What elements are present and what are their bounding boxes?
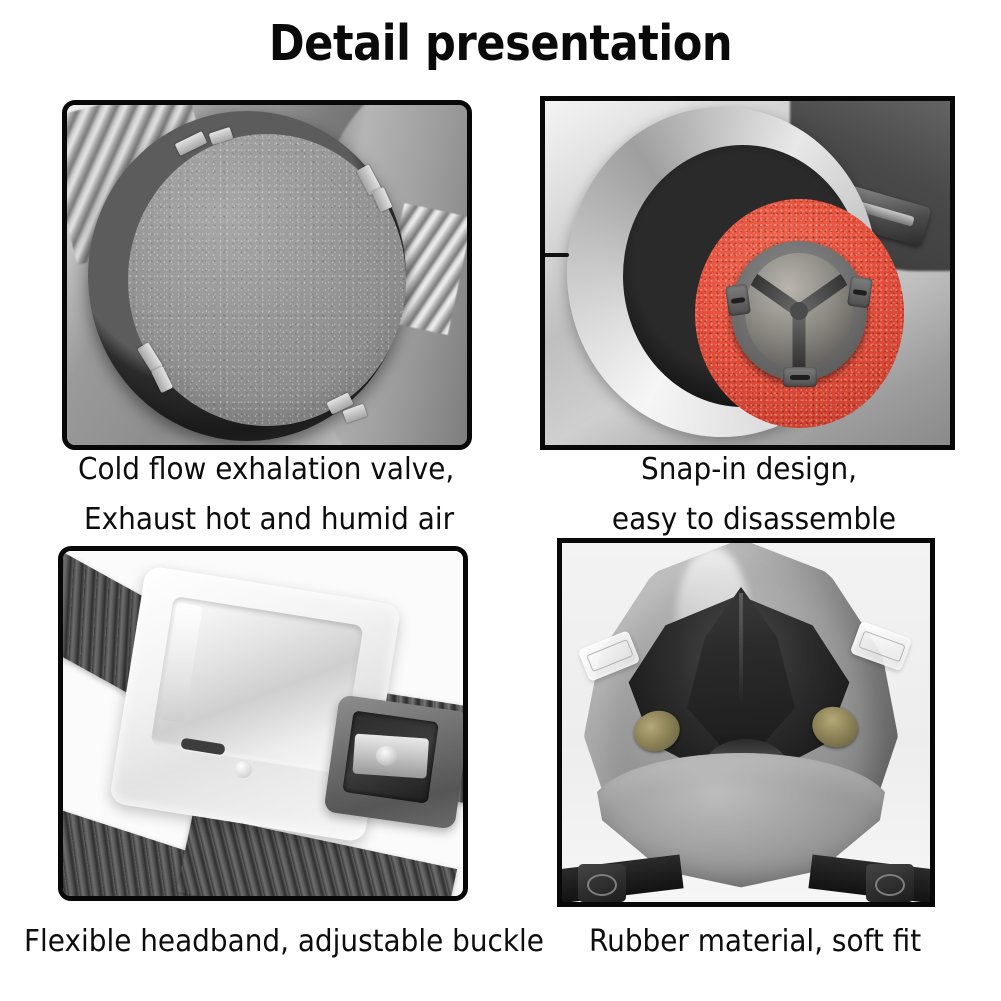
filter-housing-ring — [567, 107, 877, 437]
bayonet-bore — [745, 253, 853, 369]
strap-buckle-left — [578, 864, 626, 902]
housing-edge-mark — [545, 253, 569, 257]
buckle-rivet — [235, 761, 252, 778]
bayonet-lug-slot — [790, 375, 810, 380]
panel-cold-flow-exhalation-valve[interactable] — [62, 100, 472, 450]
buckle-release-lever — [352, 734, 429, 779]
bayonet-lug-slot — [731, 297, 745, 304]
bayonet-mount — [731, 241, 867, 381]
panel-rubber-material[interactable] — [557, 538, 935, 907]
nose-cup-ridge — [739, 593, 743, 703]
bayonet-lug — [725, 284, 751, 317]
page-title: Detail presentation — [60, 14, 941, 74]
bayonet-lug — [783, 367, 817, 387]
bayonet-lug — [847, 276, 873, 309]
rubber-mask-interior-photo — [562, 543, 930, 902]
cold-flow-exhalation-valve-photo — [67, 105, 467, 445]
buckle-release-body — [323, 694, 463, 829]
strap-buckle-right — [866, 864, 914, 902]
panel-snap-in-design[interactable] — [540, 96, 955, 450]
caption-snap-line-1: Snap-in design, — [641, 446, 857, 493]
valve-retaining-ring — [88, 111, 406, 441]
caption-valve-line-1: Cold flow exhalation valve, — [78, 446, 454, 493]
bayonet-lug-slot — [853, 289, 867, 296]
snap-in-filter-photo — [545, 101, 950, 445]
caption-rubber-material: Rubber material, soft fit — [589, 918, 921, 965]
caption-valve-line-2: Exhaust hot and humid air — [84, 496, 454, 543]
caption-snap-line-2: easy to disassemble — [612, 496, 896, 543]
buckle-release-window — [342, 710, 439, 803]
flexible-headband-buckle-photo — [63, 551, 463, 896]
caption-headband: Flexible headband, adjustable buckle — [24, 918, 544, 965]
bayonet-hub — [790, 302, 808, 320]
panel-flexible-headband[interactable] — [58, 546, 468, 901]
filter-inner-shadow-ring — [623, 145, 863, 407]
